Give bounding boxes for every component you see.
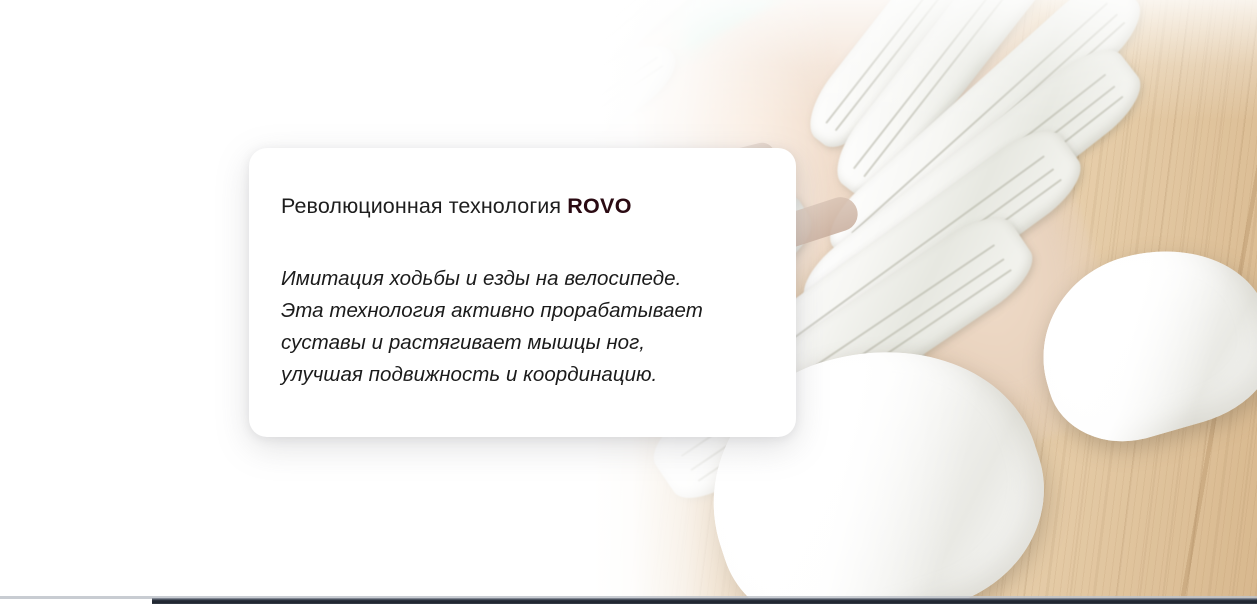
card-body: Имитация ходьбы и езды на велосипеде. Эт…	[281, 263, 756, 391]
brand-name-rovo: ROVO	[567, 194, 632, 218]
card-heading: Революционная технология ROVO	[281, 194, 756, 219]
info-card: Революционная технология ROVO Имитация х…	[249, 148, 796, 437]
body-line: суставы и растягивает мышцы ног,	[281, 327, 756, 359]
body-line: улучшая подвижность и координацию.	[281, 359, 756, 391]
body-line: Эта технология активно прорабатывает	[281, 295, 756, 327]
promo-slide: Революционная технология ROVO Имитация х…	[0, 0, 1257, 610]
bottom-dark-rule	[152, 598, 1257, 604]
body-line: Имитация ходьбы и езды на велосипеде.	[281, 263, 756, 295]
card-heading-prefix: Революционная технология	[281, 194, 567, 218]
